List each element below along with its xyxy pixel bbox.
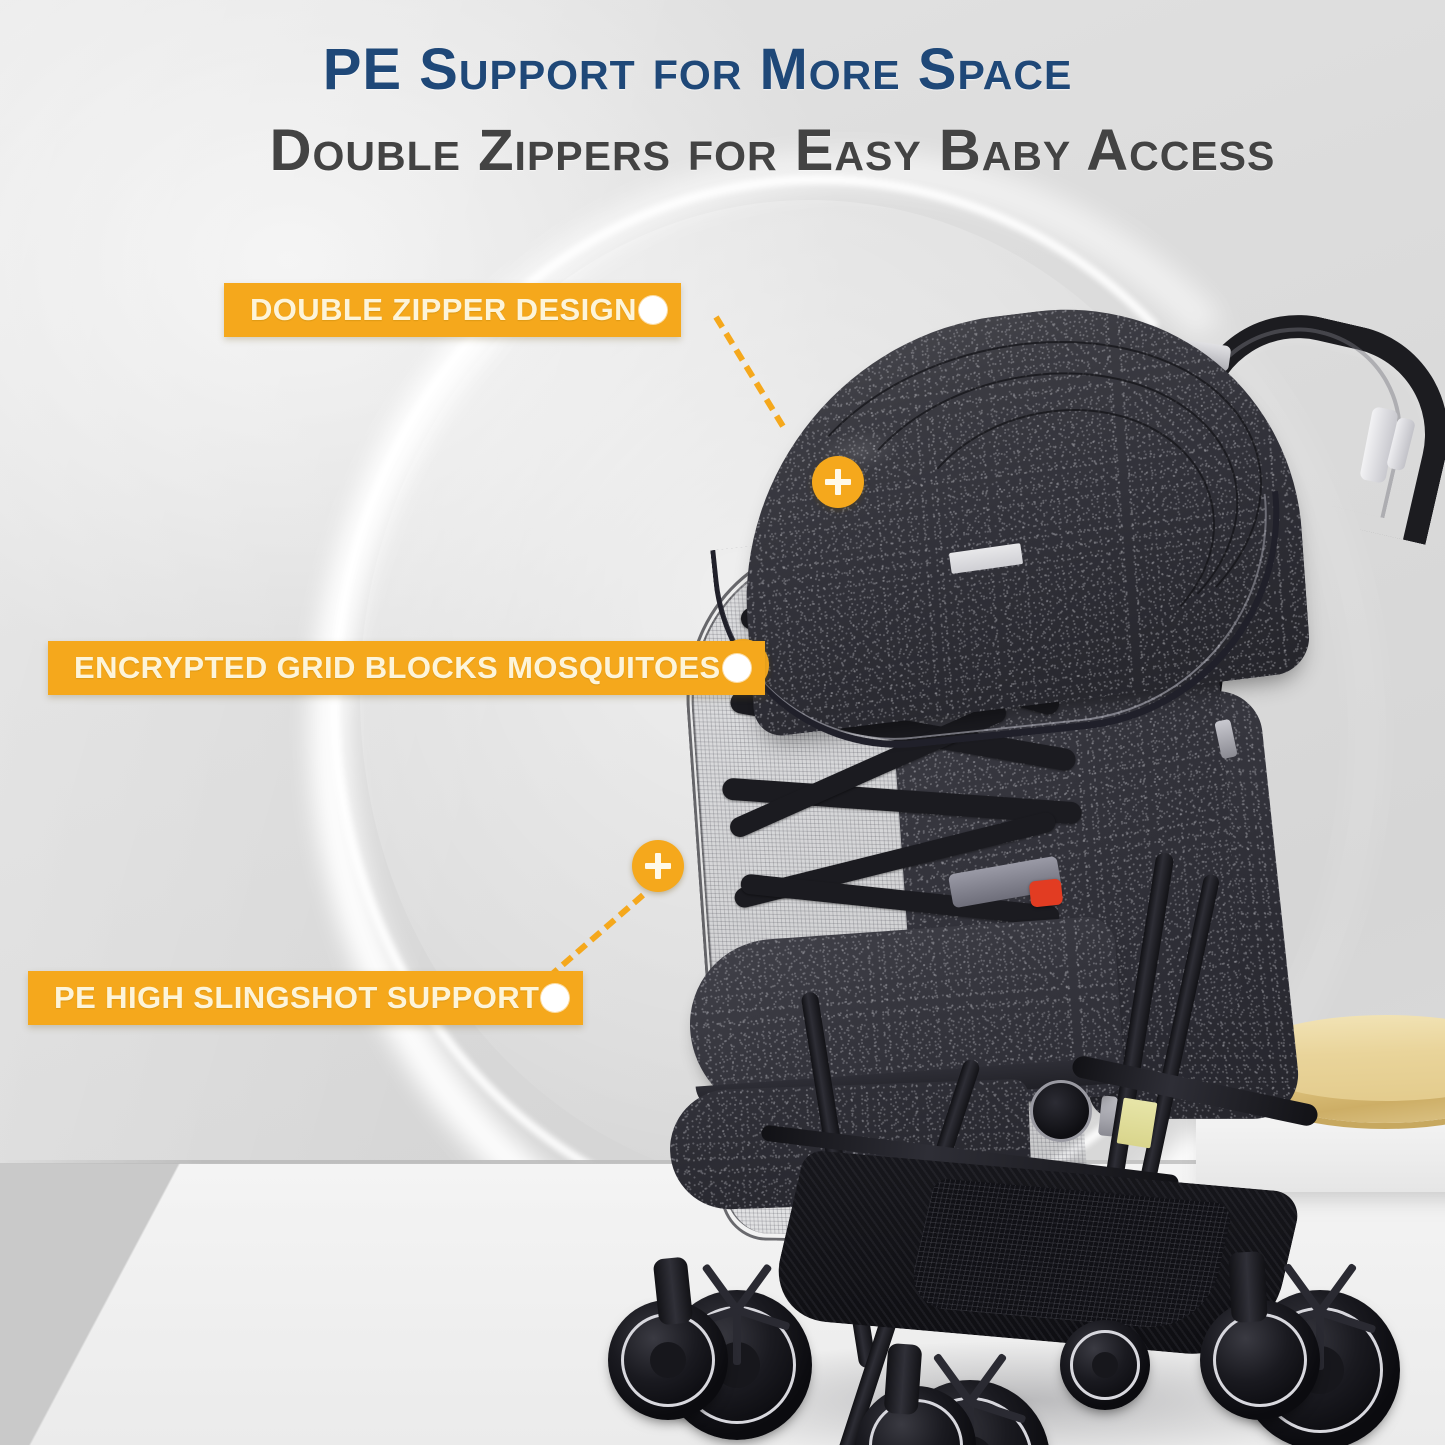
warning-sticker xyxy=(1117,1098,1158,1149)
wheel-front-right xyxy=(1060,1320,1150,1410)
fold-hinge-hub xyxy=(1030,1080,1092,1142)
callout-dot-icon xyxy=(723,654,751,682)
hotspot-plus-pe[interactable] xyxy=(632,840,684,892)
heading-primary: PE Support for More Space xyxy=(0,40,1445,99)
heading-block: PE Support for More Space Double Zippers… xyxy=(0,40,1445,180)
wheel-rim xyxy=(1213,1313,1307,1407)
wheel-fork-front-left xyxy=(884,1343,923,1415)
wheel-hub xyxy=(650,1342,686,1378)
callout-label: ENCRYPTED GRID BLOCKS MOSQUITOES xyxy=(48,650,765,686)
wheel-spoke xyxy=(1317,1263,1358,1315)
heading-secondary: Double Zippers for Easy Baby Access xyxy=(0,121,1445,180)
stroller-product-image xyxy=(600,290,1440,1445)
wheel-fork-rear-left xyxy=(653,1256,694,1325)
wheel-hub xyxy=(1092,1352,1118,1378)
callout-double-zipper-design[interactable]: DOUBLE ZIPPER DESIGN xyxy=(224,283,681,337)
infographic-canvas: PE Support for More Space Double Zippers… xyxy=(0,0,1445,1445)
callout-pe-high-slingshot-support[interactable]: PE HIGH SLINGSHOT SUPPORT xyxy=(28,971,583,1025)
wheel-spoke xyxy=(733,1310,741,1365)
storage-basket-mesh xyxy=(906,1178,1234,1332)
callout-dot-icon xyxy=(541,984,569,1012)
callout-dot-icon xyxy=(639,296,667,324)
wheel-fork-rear-right xyxy=(1228,1251,1268,1323)
harness-buckle xyxy=(1029,878,1064,907)
callout-label: DOUBLE ZIPPER DESIGN xyxy=(224,292,681,328)
wheel-spoke xyxy=(734,1263,773,1312)
floor-corner-shadow xyxy=(0,1163,230,1445)
callout-label: PE HIGH SLINGSHOT SUPPORT xyxy=(28,980,583,1016)
callout-encrypted-grid-blocks-mosquitoes[interactable]: ENCRYPTED GRID BLOCKS MOSQUITOES xyxy=(48,641,765,695)
hotspot-plus-zipper[interactable] xyxy=(812,456,864,508)
